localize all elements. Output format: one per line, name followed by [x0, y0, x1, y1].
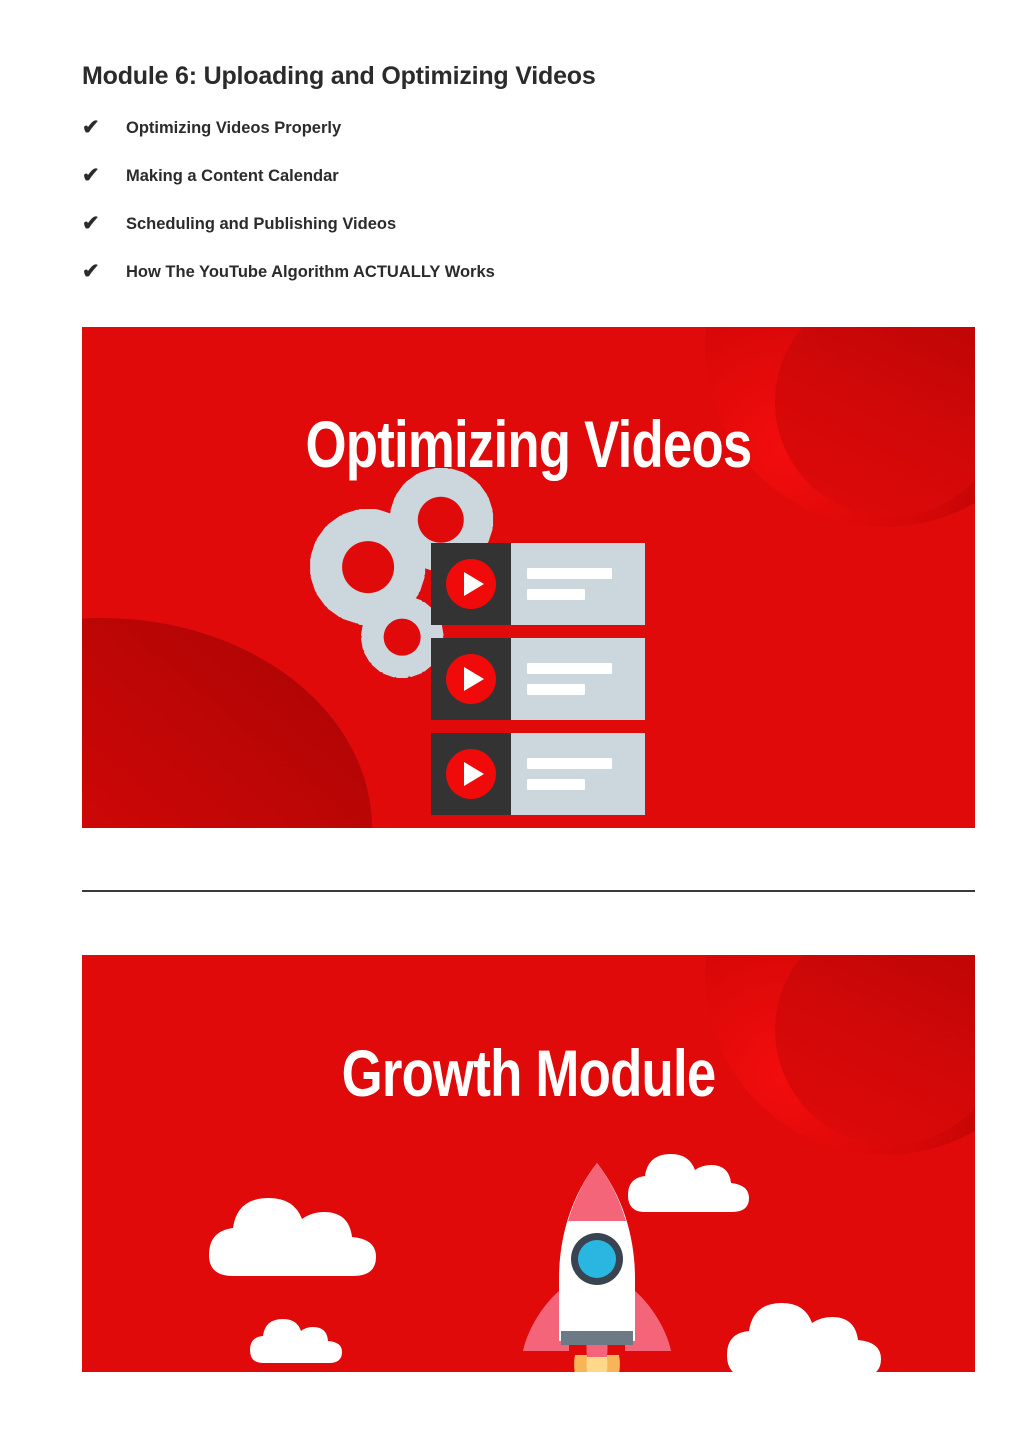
list-item: ✔ Optimizing Videos Properly — [82, 116, 782, 164]
rocket-porthole-icon — [571, 1233, 623, 1285]
video-meta-panel — [511, 733, 645, 815]
video-meta-line — [527, 663, 612, 674]
video-thumbnail — [431, 733, 511, 815]
video-list-item — [431, 733, 645, 815]
play-button-icon — [446, 559, 496, 609]
check-icon: ✔ — [82, 260, 112, 284]
check-icon: ✔ — [82, 164, 112, 188]
video-thumbnail — [431, 543, 511, 625]
rocket-flame-icon — [574, 1355, 620, 1372]
video-meta-line — [527, 568, 612, 579]
video-meta-panel — [511, 638, 645, 720]
video-meta-line — [527, 684, 585, 695]
video-meta-line — [527, 779, 585, 790]
rocket-band-icon — [561, 1331, 633, 1345]
banner-title: Optimizing Videos — [171, 406, 885, 482]
list-item: ✔ Scheduling and Publishing Videos — [82, 212, 782, 260]
rocket-icon — [497, 1155, 697, 1372]
video-list-item — [431, 638, 645, 720]
cloud-icon — [250, 1319, 342, 1363]
gear-icon — [368, 603, 436, 671]
list-item-label: Optimizing Videos Properly — [126, 116, 341, 140]
play-button-icon — [446, 749, 496, 799]
section-divider — [82, 890, 975, 892]
rocket-and-clouds-illustration — [82, 955, 975, 1372]
video-meta-line — [527, 589, 585, 600]
video-meta-panel — [511, 543, 645, 625]
list-item-label: Making a Content Calendar — [126, 164, 339, 188]
video-thumbnail — [431, 638, 511, 720]
check-icon: ✔ — [82, 212, 112, 236]
play-triangle-icon — [464, 572, 484, 596]
play-triangle-icon — [464, 667, 484, 691]
gear-hub — [384, 619, 421, 656]
gears-and-video-list-illustration — [320, 477, 740, 817]
play-button-icon — [446, 654, 496, 704]
video-list-item — [431, 543, 645, 625]
gear-hub — [342, 541, 394, 593]
module-topic-list: ✔ Optimizing Videos Properly ✔ Making a … — [82, 116, 782, 308]
play-triangle-icon — [464, 762, 484, 786]
banner-growth-module: Growth Module — [82, 955, 975, 1372]
list-item-label: How The YouTube Algorithm ACTUALLY Works — [126, 260, 495, 284]
check-icon: ✔ — [82, 116, 112, 140]
rocket-nose-icon — [568, 1163, 626, 1221]
banner-optimizing-videos: Optimizing Videos — [82, 327, 975, 828]
list-item: ✔ How The YouTube Algorithm ACTUALLY Wor… — [82, 260, 782, 308]
page-title: Module 6: Uploading and Optimizing Video… — [82, 62, 596, 91]
video-meta-line — [527, 758, 612, 769]
cloud-icon — [209, 1198, 376, 1276]
cloud-icon — [727, 1303, 881, 1372]
list-item-label: Scheduling and Publishing Videos — [126, 212, 396, 236]
list-item: ✔ Making a Content Calendar — [82, 164, 782, 212]
